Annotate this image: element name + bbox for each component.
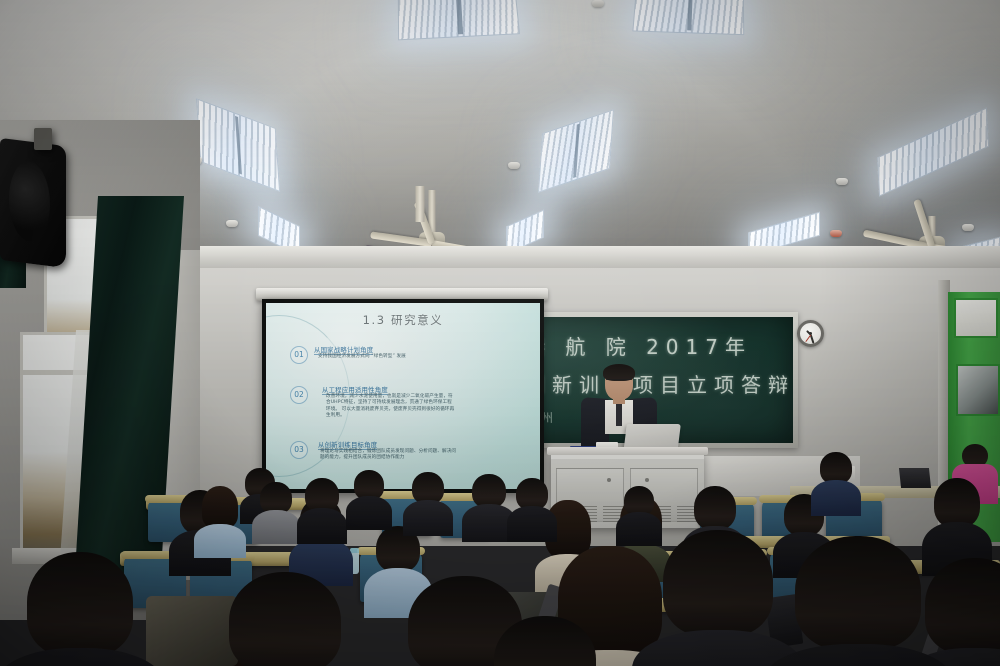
projection-screen: 1.3 研究意义 01 从国家战略计划角度 支持我国经济发展方式向 “绿色转型”… <box>262 299 544 493</box>
lectern-top <box>547 447 708 455</box>
audience-member <box>620 486 658 542</box>
lectern-knob[interactable] <box>607 478 611 482</box>
wall-clock <box>797 320 824 347</box>
audience-member-foreground <box>920 558 1000 666</box>
torso <box>346 496 392 530</box>
eyeglasses-icon <box>606 379 632 385</box>
wall-beam <box>140 246 1000 268</box>
head <box>925 558 1000 654</box>
head <box>229 572 341 666</box>
smoke-detector-icon <box>508 162 520 169</box>
audience-member <box>816 452 856 510</box>
smoke-detector-icon <box>226 220 238 227</box>
head <box>202 486 238 528</box>
slide-bullet-number: 02 <box>290 386 308 404</box>
head <box>472 474 506 508</box>
torso <box>297 508 347 544</box>
head <box>27 552 133 656</box>
smoke-detector-icon <box>836 178 848 185</box>
audience-member-foreground <box>222 572 348 666</box>
slide-title: 1.3 研究意义 <box>266 312 540 328</box>
torso <box>763 644 953 666</box>
head <box>934 478 980 528</box>
blackboard-line-1: 港 航 院 2017年 <box>525 331 785 360</box>
audience-member <box>350 470 388 526</box>
slide-bullet-body: 改善环境，减少水泥使用量，也就是减少二氧化碳产生量，符合UHPC特征，坚持了可持… <box>326 394 456 420</box>
door-vision-panel <box>956 364 1000 416</box>
smoke-detector-icon <box>830 230 842 237</box>
speaker-bracket <box>34 128 52 150</box>
torso <box>0 648 165 666</box>
slide-bullet-body: 支持我国经济发展方式向 “绿色转型” 发展 <box>318 354 454 360</box>
speaker-cone-icon <box>9 159 50 245</box>
audience-member-foreground <box>490 616 600 666</box>
slide-bullet-body: 将理论与实践相结合，锻炼团队成员发现问题、分析问题、解决问题的能力，提升团队成员… <box>320 449 458 462</box>
audience-member-foreground <box>20 552 140 666</box>
audience-member-foreground <box>790 536 926 666</box>
door-transom-window <box>954 298 998 338</box>
smoke-detector-icon <box>592 0 604 7</box>
slide-bullet-number: 01 <box>290 346 308 364</box>
classroom-photo: 1.3 研究意义 01 从国家战略计划角度 支持我国经济发展方式向 “绿色转型”… <box>0 0 1000 666</box>
head <box>305 478 339 512</box>
torso <box>811 480 861 516</box>
head <box>694 486 736 530</box>
judge-laptop <box>899 468 931 488</box>
head <box>494 616 596 666</box>
audience-member <box>468 474 510 534</box>
torso <box>403 500 453 536</box>
torso <box>252 510 300 544</box>
torso <box>507 506 557 542</box>
audience-member <box>302 478 342 538</box>
ceiling-light-panel <box>398 0 520 40</box>
clock-center-pin <box>809 332 812 335</box>
audience-member <box>408 472 448 530</box>
head <box>795 536 921 650</box>
presentation-slide: 1.3 研究意义 01 从国家战略计划角度 支持我国经济发展方式向 “绿色转型”… <box>266 303 540 489</box>
audience-member-foreground <box>656 530 780 666</box>
slide-bullet-number: 03 <box>290 441 308 459</box>
torso <box>194 524 246 558</box>
audience-member <box>198 486 242 546</box>
necktie <box>616 404 622 426</box>
head <box>663 530 773 636</box>
wall-mounted-speaker <box>0 138 66 268</box>
ceiling-light-panel <box>632 0 744 35</box>
audience-member <box>256 482 296 540</box>
audience-member <box>512 478 552 536</box>
lectern-knob[interactable] <box>645 478 649 482</box>
